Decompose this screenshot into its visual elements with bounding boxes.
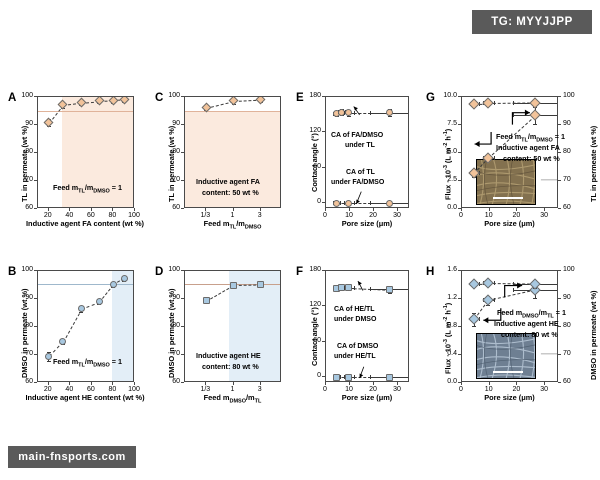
- panel-h-xtick-label: 30: [538, 386, 550, 393]
- panel-h-xtick-mark: [489, 382, 490, 385]
- panel-h-ylabel-pre: Flux · 10: [443, 344, 452, 374]
- panel-b-data-point: [121, 275, 128, 282]
- panel-f-ytick-mark: [322, 376, 325, 377]
- panel-e-xerrorbar-cap1: [354, 111, 355, 115]
- panel-c-ytick-mark: [181, 208, 184, 209]
- panel-b-ytick-label: 80: [17, 322, 33, 329]
- panel-c-ytick-label: 80: [164, 148, 180, 155]
- panel-d-ytick-mark: [181, 298, 184, 299]
- panel-f-xlabel: Pore size (μm): [325, 393, 409, 402]
- panel-a-ytick-label: 100: [17, 92, 33, 99]
- panel-g-xtick-label: 0: [455, 212, 467, 219]
- panel-f-ytick-label: 180: [305, 266, 321, 273]
- panel-f-ann-bot-line1: CA of DMSO: [337, 342, 378, 352]
- panel-e-xtick-label: 20: [367, 212, 379, 219]
- panel-a-note-pre: Feed m: [53, 183, 78, 192]
- panel-a-ytick-mark: [34, 208, 37, 209]
- panel-e-xtick-label: 10: [343, 212, 355, 219]
- panel-a-threshold-line: [38, 111, 133, 112]
- panel-a-note-end: = 1: [110, 183, 122, 192]
- panel-b-xlabel: Inductive agent HE content (wt %): [18, 393, 152, 402]
- panel-d-ylabel: DMSO in permeate (wt %): [167, 288, 176, 378]
- panel-h-y2tick-label: 80: [563, 322, 577, 329]
- panel-c-ytick-label: 60: [164, 204, 180, 211]
- panel-h-ytick-mark: [458, 270, 461, 271]
- panel-g-note-b-line1: Inductive agent FA: [496, 143, 560, 153]
- panel-h-label: H: [426, 266, 434, 278]
- panel-b-data-point: [59, 338, 66, 345]
- panel-g-xerrorbar-cap1: [494, 101, 495, 105]
- panel-a-label: A: [8, 92, 16, 104]
- panel-f-ytick-label: 120: [305, 301, 321, 308]
- panel-h-ytick-mark: [458, 298, 461, 299]
- panel-c-xtick-mark: [205, 208, 206, 211]
- panel-h-note-b-line1: Inductive agent HE: [494, 319, 559, 329]
- panel-g-y2tick-mark: [558, 208, 561, 209]
- panel-g-ytick-label: 7.5: [438, 120, 457, 127]
- panel-e-xtick-mark: [349, 208, 350, 211]
- panel-b-xtick-mark: [48, 382, 49, 385]
- panel-c-xlabel: Feed mTL/mDMSO: [184, 219, 281, 230]
- panel-d-data-point: [257, 281, 264, 288]
- panel-a-xtick-label: 20: [42, 212, 54, 219]
- panel-d-data-point: [203, 297, 210, 304]
- panel-h-ytick-label: 1.2: [438, 294, 457, 301]
- panel-g-note-a-end: = 1: [553, 132, 565, 141]
- panel-b-note-sub2: DMSO: [93, 362, 110, 368]
- panel-h-y2tick-mark: [558, 298, 561, 299]
- panel-c-ytick-mark: [181, 152, 184, 153]
- panel-f-ann-top-line1: CA of HE/TL: [334, 305, 375, 315]
- panel-f-ytick-mark: [322, 270, 325, 271]
- panel-d-xtick-mark: [233, 382, 234, 385]
- panel-e-ann-top-line1: CA of FA/DMSO: [331, 131, 383, 141]
- panel-h-y2tick-label: 90: [563, 294, 577, 301]
- panel-c-ylabel: TL in permeate (wt %): [167, 126, 176, 202]
- panel-f-data-point: [345, 374, 352, 381]
- panel-g-data-point: [483, 98, 494, 109]
- panel-e-ytick-mark: [322, 167, 325, 168]
- panel-h-ytick-mark: [458, 382, 461, 383]
- panel-g-label: G: [426, 92, 435, 104]
- panel-c-ytick-label: 70: [164, 176, 180, 183]
- panel-b-ytick-mark: [34, 382, 37, 383]
- panel-g-xtick-label: 30: [538, 212, 550, 219]
- panel-e-ytick-label: 0: [305, 198, 321, 205]
- panel-g-ytick-label: 2.5: [438, 176, 457, 183]
- panel-e-data-point: [386, 200, 393, 207]
- panel-g-ytick-label: 0.0: [438, 204, 457, 211]
- panel-h-ylabel-sup3: -1: [443, 305, 449, 310]
- panel-f-ann-bot-line2: under HE/TL: [334, 352, 376, 362]
- panel-g-y2tick-mark: [558, 96, 561, 97]
- panel-g-ytick-mark: [458, 124, 461, 125]
- panel-h-xerrorbar-cap1: [494, 281, 495, 285]
- panel-b-note-end: = 1: [110, 357, 122, 366]
- panel-e-xerrorbar-cap1: [340, 201, 341, 205]
- panel-b-xtick-label: 100: [128, 386, 140, 393]
- panel-h-note-a-mid: /m: [539, 308, 547, 317]
- panel-f-yerrorbar-cap0: [388, 293, 392, 294]
- panel-a-note-sub1: TL: [78, 188, 85, 194]
- panel-h-xlabel: Pore size (μm): [461, 393, 558, 402]
- panel-g-y2tick-label: 60: [563, 204, 577, 211]
- panel-h-ylabel-unit2: h: [443, 310, 452, 317]
- panel-b-xtick-label: 20: [42, 386, 54, 393]
- panel-c-note-line1: Inductive agent FA: [196, 177, 260, 187]
- panel-h-y2tick-label: 100: [563, 266, 577, 273]
- panel-b-ytick-mark: [34, 326, 37, 327]
- panel-a-xtick-label: 80: [106, 212, 118, 219]
- panel-e-xlabel: Pore size (μm): [325, 219, 409, 228]
- panel-h-ytick-label: 1.6: [438, 266, 457, 273]
- panel-f-xtick-mark: [397, 382, 398, 385]
- panel-c-threshold-line: [185, 111, 280, 112]
- panel-g-xtick-label: 20: [510, 212, 522, 219]
- panel-g-y2tick-label: 90: [563, 120, 577, 127]
- panel-f-xtick-mark: [373, 382, 374, 385]
- panel-f-data-point: [345, 284, 352, 291]
- panel-b-xtick-label: 40: [63, 386, 75, 393]
- panel-g-note-b-line2: content: 50 wt %: [503, 154, 560, 164]
- panel-f-xtick-mark: [325, 382, 326, 385]
- panel-e-xerrorbar-cap1: [354, 201, 355, 205]
- panel-g-ytick-mark: [458, 208, 461, 209]
- panel-e-plot-frame: [325, 96, 409, 208]
- panel-e-ytick-label: 180: [305, 92, 321, 99]
- panel-e-xtick-mark: [373, 208, 374, 211]
- panel-a-xtick-mark: [48, 208, 49, 211]
- panel-a-ytick-label: 70: [17, 176, 33, 183]
- panel-h-yerrorbar-cap0: [533, 298, 537, 299]
- panel-e-xtick-label: 30: [391, 212, 403, 219]
- panel-h-sem-arrow-icon: ⟶: [540, 347, 558, 363]
- panel-d-xlabel-mid: /m: [246, 393, 255, 402]
- panel-d-data-point: [230, 282, 237, 289]
- panel-c-xtick-label: 1: [224, 212, 242, 219]
- panel-h-data-point: [469, 278, 480, 289]
- panel-e-ann-top-line2: under TL: [345, 141, 375, 151]
- panel-f-xtick-label: 0: [319, 386, 331, 393]
- panel-e-xerrorbar-cap0: [370, 111, 371, 115]
- panel-f-data-point: [333, 374, 340, 381]
- panel-a-note: Feed mTL/mDMSO = 1: [53, 183, 122, 197]
- panel-h-y2tick-mark: [558, 270, 561, 271]
- panel-g-xtick-mark: [544, 208, 545, 211]
- panel-g-ylabel: Flux · 10-3 (L m-2 h-1): [443, 129, 452, 200]
- panel-g-xerrorbar-cap0: [513, 101, 514, 105]
- panel-d-xtick-label: 1/3: [196, 386, 214, 393]
- panel-b-trend-segment: [63, 309, 82, 342]
- panel-f-xtick-label: 30: [391, 386, 403, 393]
- panel-e-yerrorbar-cap0: [388, 116, 392, 117]
- panel-g-sem-before-scalebar: [493, 197, 523, 199]
- panel-h-data-point: [483, 278, 494, 289]
- panel-d-ytick-mark: [181, 326, 184, 327]
- panel-g-yerrorbar-cap0: [533, 124, 537, 125]
- panel-b-threshold-line: [38, 284, 133, 285]
- panel-b-ytick-mark: [34, 298, 37, 299]
- panel-h-trend-segment: [488, 290, 535, 301]
- panel-d-xtick-mark: [260, 382, 261, 385]
- panel-g-ytick-label: 10.0: [438, 92, 457, 99]
- panel-e-ytick-mark: [322, 96, 325, 97]
- panel-h-data-point: [469, 314, 480, 325]
- panel-d-note-line1: Inductive agent HE: [196, 351, 261, 361]
- panel-b-ytick-label: 100: [17, 266, 33, 273]
- panel-a-ytick-mark: [34, 180, 37, 181]
- panel-g-data-point: [530, 97, 541, 108]
- panel-g-xerrorbar-cap1: [494, 156, 495, 160]
- panel-c-xlabel-mid: /m: [236, 219, 245, 228]
- panel-h-xtick-mark: [516, 382, 517, 385]
- panel-h-xtick-mark: [544, 382, 545, 385]
- panel-f-ytick-mark: [322, 341, 325, 342]
- panel-g-xlabel: Pore size (μm): [461, 219, 558, 228]
- panel-g-sem-arrow-icon: ⟶: [540, 173, 558, 189]
- panel-d-ytick-label: 60: [164, 378, 180, 385]
- panel-d-ytick-label: 80: [164, 322, 180, 329]
- panel-c-ytick-label: 100: [164, 92, 180, 99]
- panel-d-ytick-mark: [181, 382, 184, 383]
- panel-d-xtick-mark: [205, 382, 206, 385]
- panel-f-ytick-label: 60: [305, 337, 321, 344]
- panel-d-ytick-label: 70: [164, 350, 180, 357]
- panel-e-ytick-mark: [322, 131, 325, 132]
- panel-a-xlabel: Inductive agent FA content (wt %): [20, 219, 150, 228]
- panel-h-ylabel-sup2: -2: [443, 317, 449, 322]
- panel-b-errorbar-cap0: [47, 361, 51, 362]
- panel-f-ytick-label: 0: [305, 372, 321, 379]
- panel-f-label: F: [296, 266, 303, 278]
- panel-c-data-point: [256, 96, 266, 104]
- panel-a-ytick-label: 80: [17, 148, 33, 155]
- panel-h-xerrorbar-cap0: [513, 282, 514, 286]
- panel-c-ytick-mark: [181, 124, 184, 125]
- panel-h-sem-before: [476, 333, 536, 379]
- panel-h-ylabel-end: ): [443, 303, 452, 305]
- panel-d-xtick-label: 3: [251, 386, 269, 393]
- panel-h-y2tick-mark: [558, 354, 561, 355]
- panel-c-note-line2: content: 50 wt %: [202, 188, 259, 198]
- panel-b-note-pre: Feed m: [53, 357, 78, 366]
- panel-c-xtick-mark: [233, 208, 234, 211]
- panel-e-label: E: [296, 92, 304, 104]
- panel-f-plot-frame: [325, 270, 409, 382]
- panel-c-xtick-label: 1/3: [196, 212, 214, 219]
- panel-h-xtick-label: 10: [483, 386, 495, 393]
- panel-a-xtick-mark: [134, 208, 135, 211]
- panel-f-xerrorbar-cap0: [370, 287, 371, 291]
- panel-a-xtick-label: 100: [128, 212, 140, 219]
- panel-b-data-point: [96, 298, 103, 305]
- panel-g-ytick-mark: [458, 152, 461, 153]
- panel-b-data-point: [45, 353, 52, 360]
- panel-d-xlabel-sub1: DMSO: [230, 398, 247, 404]
- panel-e-xtick-label: 0: [319, 212, 331, 219]
- panel-b-xtick-mark: [91, 382, 92, 385]
- panel-b-data-point: [78, 305, 85, 312]
- panel-h-y2label: DMSO in permeate (wt %): [589, 290, 598, 380]
- panel-c-data-point: [229, 96, 239, 106]
- panel-e-data-point: [386, 109, 393, 116]
- panel-h-ytick-mark: [458, 354, 461, 355]
- panel-h-xtick-label: 0: [455, 386, 467, 393]
- panel-h-ylabel-sup: -3: [443, 339, 449, 344]
- panel-a-ytick-mark: [34, 124, 37, 125]
- panel-h-xtick-mark: [461, 382, 462, 385]
- panel-b-label: B: [8, 266, 16, 278]
- panel-g-y2tick-label: 80: [563, 148, 577, 155]
- panel-h-ytick-label: 0.0: [438, 378, 457, 385]
- panel-g-xtick-mark: [489, 208, 490, 211]
- panel-g-ylabel-unit2: h: [443, 136, 452, 143]
- panel-e-ytick-mark: [322, 202, 325, 203]
- panel-h-y2tick-label: 70: [563, 350, 577, 357]
- panel-f-data-point: [386, 374, 393, 381]
- panel-g-ylabel-end: ): [443, 129, 452, 131]
- panel-d-ytick-label: 90: [164, 294, 180, 301]
- panel-b-xtick-label: 60: [85, 386, 97, 393]
- panel-b-xtick-mark: [69, 382, 70, 385]
- panel-d-ytick-mark: [181, 354, 184, 355]
- panel-c-xtick-mark: [260, 208, 261, 211]
- panel-g-ytick-mark: [458, 180, 461, 181]
- panel-b-note-sub1: TL: [78, 362, 85, 368]
- panel-g-note-a-pre: Feed m: [496, 132, 521, 141]
- panel-b-data-point: [110, 281, 117, 288]
- tg-badge: TG: MYYJJPP: [472, 10, 592, 34]
- panel-g-ylabel-sup: -3: [443, 165, 449, 170]
- panel-e-ann-bot-line1: CA of TL: [346, 168, 375, 178]
- panel-f-ytick-mark: [322, 305, 325, 306]
- panel-h-note-a-pre: Feed m: [497, 308, 522, 317]
- panel-h-note-b-line2: content: 80 wt %: [501, 330, 558, 340]
- panel-e-xtick-mark: [397, 208, 398, 211]
- panel-b-ytick-label: 70: [17, 350, 33, 357]
- panel-c-label: C: [155, 92, 163, 104]
- panel-a-ytick-label: 90: [17, 120, 33, 127]
- panel-e-yerrorbar-cap0: [347, 116, 351, 117]
- panel-g-xtick-label: 10: [483, 212, 495, 219]
- panel-f-xerrorbar-cap1: [354, 286, 355, 290]
- panel-b-xtick-mark: [112, 382, 113, 385]
- panel-h-ytick-mark: [458, 326, 461, 327]
- panel-d-ytick-mark: [181, 270, 184, 271]
- panel-a-note-sub2: DMSO: [93, 188, 110, 194]
- panel-b-ytick-mark: [34, 270, 37, 271]
- panel-a-ytick-mark: [34, 96, 37, 97]
- panel-g-xtick-mark: [516, 208, 517, 211]
- panel-d-xlabel: Feed mDMSO/mTL: [184, 393, 281, 404]
- panel-e-ann-bot-line2: under FA/DMSO: [331, 178, 384, 188]
- panel-a-xtick-mark: [91, 208, 92, 211]
- panel-b-xtick-label: 80: [106, 386, 118, 393]
- panel-e-xtick-mark: [325, 208, 326, 211]
- panel-h-xerrorbar-cap0: [513, 288, 514, 292]
- panel-g-y2tick-mark: [558, 124, 561, 125]
- panel-h-sem-before-scalebar: [493, 371, 523, 373]
- panel-a-xtick-mark: [69, 208, 70, 211]
- panel-e-data-point: [345, 200, 352, 207]
- panel-b-note: Feed mTL/mDMSO = 1: [53, 357, 122, 371]
- panel-f-xtick-mark: [349, 382, 350, 385]
- panel-b-ylabel: DMSO in permeate (wt %): [20, 288, 29, 378]
- panel-b-ytick-label: 90: [17, 294, 33, 301]
- panel-e-data-point: [333, 200, 340, 207]
- panel-b-xtick-mark: [134, 382, 135, 385]
- panel-c-xlabel-sub2: DMSO: [245, 224, 262, 230]
- panel-h-yerrorbar-cap0: [472, 326, 476, 327]
- panel-g-data-point: [469, 98, 480, 109]
- panel-h-y2tick-mark: [558, 382, 561, 383]
- panel-b-ytick-mark: [34, 354, 37, 355]
- panel-g-y2tick-mark: [558, 180, 561, 181]
- panel-g-y2label: TL in permeate (wt %): [589, 126, 598, 202]
- panel-d-xlabel-pre: Feed m: [204, 393, 230, 402]
- panel-g-xerrorbar-cap0: [513, 113, 514, 117]
- panel-g-xtick-mark: [461, 208, 462, 211]
- panel-f-xerrorbar-cap1: [340, 375, 341, 379]
- panel-e-ytick-label: 120: [305, 127, 321, 134]
- panel-g-y2tick-mark: [558, 152, 561, 153]
- panel-g-ylabel-sup2: -2: [443, 143, 449, 148]
- panel-h-ylabel: Flux · 10-3 (L m-2 h-1): [443, 303, 452, 374]
- panel-f-xtick-label: 10: [343, 386, 355, 393]
- panel-d-xlabel-sub2: TL: [255, 398, 262, 404]
- panel-f-xerrorbar-cap1: [354, 375, 355, 379]
- panel-c-xtick-label: 3: [251, 212, 269, 219]
- panel-a-xtick-mark: [112, 208, 113, 211]
- panel-g-ytick-label: 5.0: [438, 148, 457, 155]
- panel-g-sem-before: [476, 159, 536, 205]
- panel-a-ytick-label: 60: [17, 204, 33, 211]
- panel-a-xtick-label: 40: [63, 212, 75, 219]
- panel-h-y2tick-mark: [558, 326, 561, 327]
- panel-h-ytick-label: 0.4: [438, 350, 457, 357]
- watermark: main-fnsports.com: [8, 446, 136, 468]
- panel-a-ytick-mark: [34, 152, 37, 153]
- panel-g-ylabel-sup3: -1: [443, 131, 449, 136]
- panel-a-xtick-label: 60: [85, 212, 97, 219]
- panel-c-ytick-mark: [181, 180, 184, 181]
- panel-h-note-a-end: = 1: [554, 308, 566, 317]
- panel-h-ytick-label: 0.8: [438, 322, 457, 329]
- panel-g-ylabel-pre: Flux · 10: [443, 170, 452, 200]
- panel-g-ytick-mark: [458, 96, 461, 97]
- panel-g-y2tick-label: 70: [563, 176, 577, 183]
- panel-e-ytick-label: 60: [305, 163, 321, 170]
- panel-f-data-point: [386, 286, 393, 293]
- panel-b-ytick-label: 60: [17, 378, 33, 385]
- panel-d-xtick-label: 1: [224, 386, 242, 393]
- panel-a-ylabel: TL in permeate (wt %): [20, 126, 29, 202]
- panel-d-label: D: [155, 266, 163, 278]
- panel-h-y2tick-label: 60: [563, 378, 577, 385]
- panel-h-xerrorbar-cap1: [494, 298, 495, 302]
- panel-f-xerrorbar-cap0: [370, 375, 371, 379]
- panel-d-note-line2: content: 80 wt %: [202, 362, 259, 372]
- panel-d-ytick-label: 100: [164, 266, 180, 273]
- panel-e-data-point: [345, 109, 352, 116]
- panel-e-xerrorbar-cap0: [370, 201, 371, 205]
- panel-c-ytick-label: 90: [164, 120, 180, 127]
- panel-f-ann-top-line2: under DMSO: [334, 315, 376, 325]
- panel-g-y2tick-label: 100: [563, 92, 577, 99]
- panel-f-xtick-label: 20: [367, 386, 379, 393]
- panel-c-ytick-mark: [181, 96, 184, 97]
- panel-c-xlabel-pre: Feed m: [204, 219, 230, 228]
